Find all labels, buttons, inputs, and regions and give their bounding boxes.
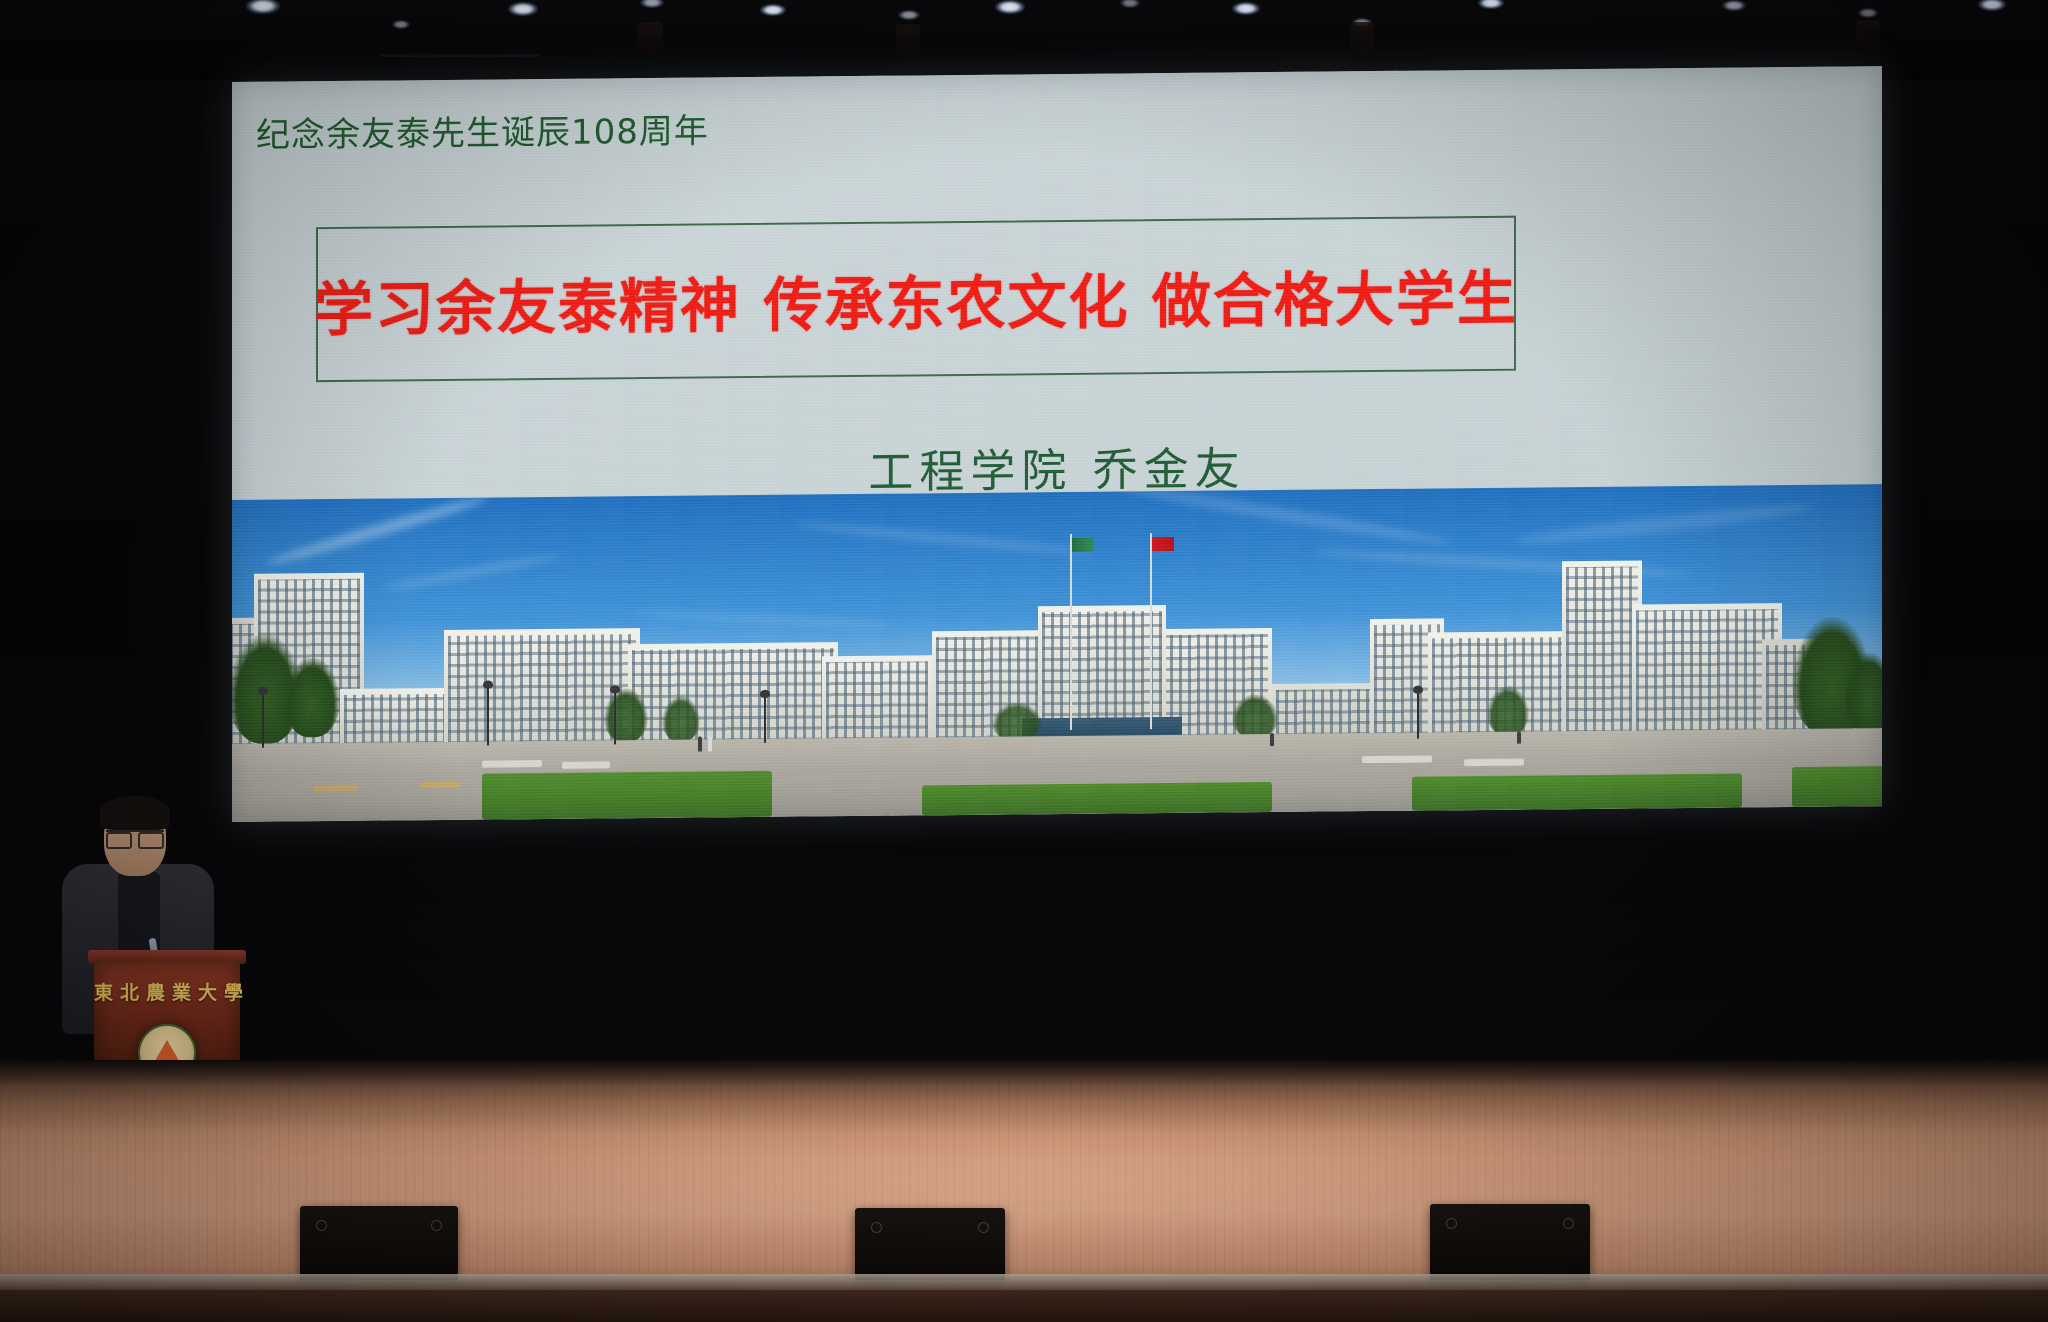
eyeglasses-icon [106, 830, 164, 843]
ceiling-light [1978, 0, 2006, 11]
stage-floor [0, 1060, 2048, 1322]
cloud-wisp [265, 492, 489, 569]
tree [284, 657, 340, 738]
campus-lawn [1792, 766, 1882, 807]
stage-front-apron [0, 1290, 2048, 1322]
campus-building-tower [1562, 560, 1642, 737]
tree [992, 702, 1042, 740]
stage-light-fixture [896, 24, 920, 54]
street-lamp [764, 697, 766, 743]
street-lamp [487, 688, 489, 746]
campus-building [1632, 603, 1782, 736]
plaza-curb [482, 760, 542, 768]
ceiling-light [1478, 0, 1504, 9]
projection-screen: 纪念余友泰先生诞辰108周年 学习余友泰精神 传承东农文化 做合格大学生 工程学… [232, 66, 1882, 822]
stage-light-fixture [1856, 20, 1880, 50]
stage-monitor-speaker [855, 1208, 1005, 1280]
podium-university-name: 東北農業大學 [94, 978, 240, 1005]
ceiling-light [392, 20, 410, 29]
speaker-hair [100, 796, 170, 830]
campus-lawn [482, 771, 772, 820]
ceiling-light [760, 4, 786, 16]
stage-monitor-speaker [1430, 1204, 1590, 1280]
cloud-wisp [383, 551, 562, 593]
stage-edge-lip [0, 1274, 2048, 1290]
pedestrian [708, 736, 712, 751]
stage-monitor-speaker [300, 1206, 458, 1280]
street-lamp [262, 694, 264, 748]
plaza-curb [562, 761, 610, 768]
tree [1487, 686, 1529, 736]
flagpole [1150, 533, 1152, 729]
street-lamp [614, 692, 616, 744]
lighting-truss-bar [380, 54, 540, 57]
cloud-wisp [1512, 499, 1812, 549]
tree [1232, 694, 1278, 738]
ceiling-light [508, 2, 538, 16]
plaza-curb [1464, 759, 1524, 767]
ceiling-light [995, 0, 1025, 14]
ceiling-light [1722, 0, 1746, 11]
ceiling-light [1858, 8, 1878, 18]
bench [314, 785, 358, 791]
ceiling-light [898, 10, 920, 20]
bench [420, 782, 460, 788]
pedestrian [1517, 732, 1521, 744]
campus-building [628, 642, 838, 746]
plaza-curb [1362, 755, 1432, 763]
slide-header-text: 纪念余友泰先生诞辰108周年 [256, 103, 709, 156]
stage-light-fixture [637, 22, 663, 56]
podium-front-panel: 東北農業大學 1948 [94, 962, 240, 1074]
campus-lawn [922, 782, 1272, 815]
tree [662, 696, 700, 742]
cloud-wisp [632, 609, 892, 628]
street-lamp [1417, 693, 1419, 739]
slide-title-text: 学习余友泰精神 传承东农文化 做合格大学生 [314, 251, 1518, 348]
ceiling-light [246, 0, 280, 14]
pedestrian [698, 736, 702, 751]
tree [604, 688, 648, 742]
ceiling-light [640, 0, 664, 8]
campus-photo: 艰苦奋斗 自强不息 [232, 484, 1882, 822]
national-flag [1152, 537, 1174, 551]
ceiling-light [1120, 0, 1140, 8]
green-flag [1072, 538, 1094, 552]
campus-lawn [1412, 774, 1742, 811]
stage-light-fixture [1350, 22, 1374, 54]
flagpole [1070, 534, 1072, 730]
cloud-wisp [792, 519, 1091, 557]
campus-building [822, 655, 932, 744]
auditorium-stage-scene: 纪念余友泰先生诞辰108周年 学习余友泰精神 传承东农文化 做合格大学生 工程学… [0, 0, 2048, 1322]
ceiling-light [1232, 2, 1260, 15]
slide-title-frame: 学习余友泰精神 传承东农文化 做合格大学生 [316, 216, 1516, 383]
pedestrian [1270, 733, 1274, 746]
